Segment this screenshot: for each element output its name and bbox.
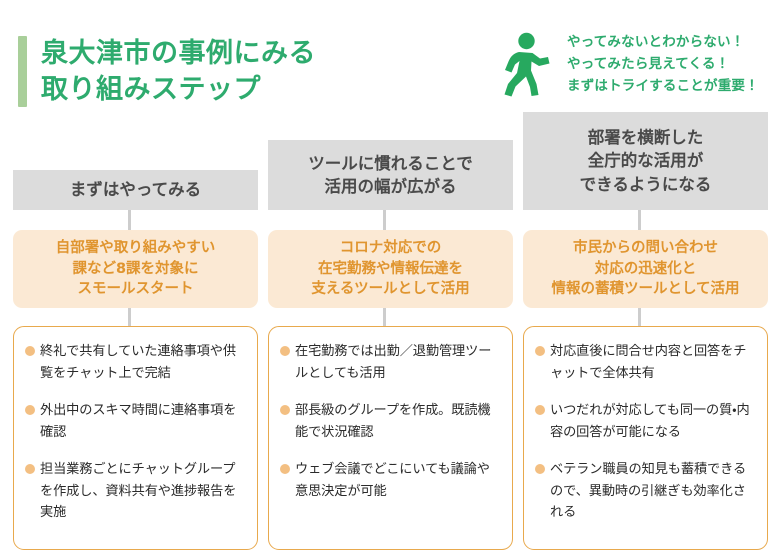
- step-summary-1-line-1: 自部署や取り組みやすい: [56, 238, 216, 259]
- connector-line-box-to-card-2: [383, 308, 386, 326]
- list-item: 終礼で共有していた連絡事項や供覧をチャット上で完結: [25, 341, 245, 384]
- step-summary-3-line-3: 情報の蓄積ツールとして活用: [551, 279, 739, 300]
- tagline-group: やってみないとわからない！ やってみたら見えてくる！ まずはトライすることが重要…: [495, 32, 759, 98]
- bullet-text: 部長級のグループを作成。既読機能で状況確認: [295, 400, 500, 443]
- step-header-1-line-1: まずはやってみる: [70, 178, 201, 201]
- page-title-line-1: 泉大津市の事例にみる: [41, 36, 316, 72]
- step-summary-box-1: 自部署や取り組みやすい 課など8課を対象に スモールスタート: [13, 230, 258, 308]
- tagline-line-2: やってみたら見えてくる！: [567, 54, 759, 76]
- step-header-1: まずはやってみる: [13, 170, 258, 210]
- bullet-text: ウェブ会議でどこにいても議論や意思決定が可能: [295, 459, 500, 502]
- list-item: 部長級のグループを作成。既読機能で状況確認: [280, 400, 500, 443]
- bullet-dot-icon: [25, 464, 35, 474]
- step-summary-1-line-3: スモールスタート: [78, 279, 194, 300]
- step-summary-2-line-3: 支えるツールとして活用: [311, 279, 469, 300]
- step-header-3-line-3: できるようになる: [580, 173, 712, 196]
- step-summary-3-line-1: 市民からの問い合わせ: [573, 238, 718, 259]
- list-item: ウェブ会議でどこにいても議論や意思決定が可能: [280, 459, 500, 502]
- list-item: ベテラン職員の知見も蓄積できるので、異動時の引継ぎも効率化される: [535, 459, 755, 524]
- step-columns: まずはやってみる 自部署や取り組みやすい 課など8課を対象に スモールスタート …: [0, 112, 772, 552]
- bullet-text: いつだれが対応しても同一の質・内容の回答が可能になる: [550, 400, 755, 443]
- step-column-1: まずはやってみる 自部署や取り組みやすい 課など8課を対象に スモールスタート …: [13, 112, 258, 552]
- page-title-line-2: 取り組みステップ: [41, 72, 316, 108]
- bullet-text: 在宅勤務では出勤／退勤管理ツールとしても活用: [295, 341, 500, 384]
- list-item: 外出中のスキマ時間に連絡事項を確認: [25, 400, 245, 443]
- bullet-text: 外出中のスキマ時間に連絡事項を確認: [40, 400, 245, 443]
- list-item: 対応直後に問合せ内容と回答をチャットで全体共有: [535, 341, 755, 384]
- step-column-3: 部署を横断した 全庁的な活用が できるようになる 市民からの問い合わせ 対応の迅…: [523, 112, 768, 552]
- list-item: 担当業務ごとにチャットグループを作成し、資料共有や進捗報告を実施: [25, 459, 245, 524]
- connector-line-head-to-box-1: [128, 210, 131, 230]
- bullet-dot-icon: [535, 464, 545, 474]
- bullet-dot-icon: [280, 405, 290, 415]
- connector-line-head-to-box-3: [638, 210, 641, 230]
- connector-line-box-to-card-3: [638, 308, 641, 326]
- bullet-text: 終礼で共有していた連絡事項や供覧をチャット上で完結: [40, 341, 245, 384]
- tagline-line-1: やってみないとわからない！: [567, 32, 759, 54]
- connector-line-box-to-card-1: [128, 308, 131, 326]
- step-summary-2-line-1: コロナ対応での: [340, 238, 442, 259]
- step-header-3-line-1: 部署を横断した: [588, 126, 704, 149]
- connector-line-head-to-box-2: [383, 210, 386, 230]
- bullet-dot-icon: [25, 405, 35, 415]
- bullet-text: 担当業務ごとにチャットグループを作成し、資料共有や進捗報告を実施: [40, 459, 245, 524]
- list-item: 在宅勤務では出勤／退勤管理ツールとしても活用: [280, 341, 500, 384]
- bullet-text: ベテラン職員の知見も蓄積できるので、異動時の引継ぎも効率化される: [550, 459, 755, 524]
- infographic-header: 泉大津市の事例にみる 取り組みステップ やってみないとわからない！ やってみたら…: [0, 0, 772, 118]
- bullet-dot-icon: [280, 346, 290, 356]
- step-header-3-line-2: 全庁的な活用が: [588, 149, 704, 172]
- title-block: 泉大津市の事例にみる 取り組みステップ: [18, 36, 316, 107]
- bullet-dot-icon: [25, 346, 35, 356]
- step-header-3: 部署を横断した 全庁的な活用が できるようになる: [523, 112, 768, 210]
- step-detail-card-1: 終礼で共有していた連絡事項や供覧をチャット上で完結 外出中のスキマ時間に連絡事項…: [13, 326, 258, 550]
- bullet-dot-icon: [535, 346, 545, 356]
- list-item: いつだれが対応しても同一の質・内容の回答が可能になる: [535, 400, 755, 443]
- step-header-2: ツールに慣れることで 活用の幅が広がる: [268, 140, 513, 210]
- step-detail-card-3: 対応直後に問合せ内容と回答をチャットで全体共有 いつだれが対応しても同一の質・内…: [523, 326, 768, 550]
- step-column-2: ツールに慣れることで 活用の幅が広がる コロナ対応での 在宅勤務や情報伝達を 支…: [268, 112, 513, 552]
- tagline-text: やってみないとわからない！ やってみたら見えてくる！ まずはトライすることが重要…: [567, 32, 759, 98]
- step-summary-1-line-2: 課など8課を対象に: [72, 259, 198, 280]
- step-detail-card-2: 在宅勤務では出勤／退勤管理ツールとしても活用 部長級のグループを作成。既読機能で…: [268, 326, 513, 550]
- bullet-text: 対応直後に問合せ内容と回答をチャットで全体共有: [550, 341, 755, 384]
- running-person-icon: [495, 32, 557, 98]
- bullet-dot-icon: [280, 464, 290, 474]
- page-title: 泉大津市の事例にみる 取り組みステップ: [41, 36, 316, 107]
- bullet-dot-icon: [535, 405, 545, 415]
- step-summary-box-3: 市民からの問い合わせ 対応の迅速化と 情報の蓄積ツールとして活用: [523, 230, 768, 308]
- step-summary-2-line-2: 在宅勤務や情報伝達を: [318, 259, 463, 280]
- title-accent-bar: [18, 36, 27, 107]
- step-summary-box-2: コロナ対応での 在宅勤務や情報伝達を 支えるツールとして活用: [268, 230, 513, 308]
- step-summary-3-line-2: 対応の迅速化と: [595, 259, 697, 280]
- tagline-line-3: まずはトライすることが重要！: [567, 76, 759, 98]
- step-header-2-line-2: 活用の幅が広がる: [325, 175, 457, 198]
- step-header-2-line-1: ツールに慣れることで: [308, 152, 473, 175]
